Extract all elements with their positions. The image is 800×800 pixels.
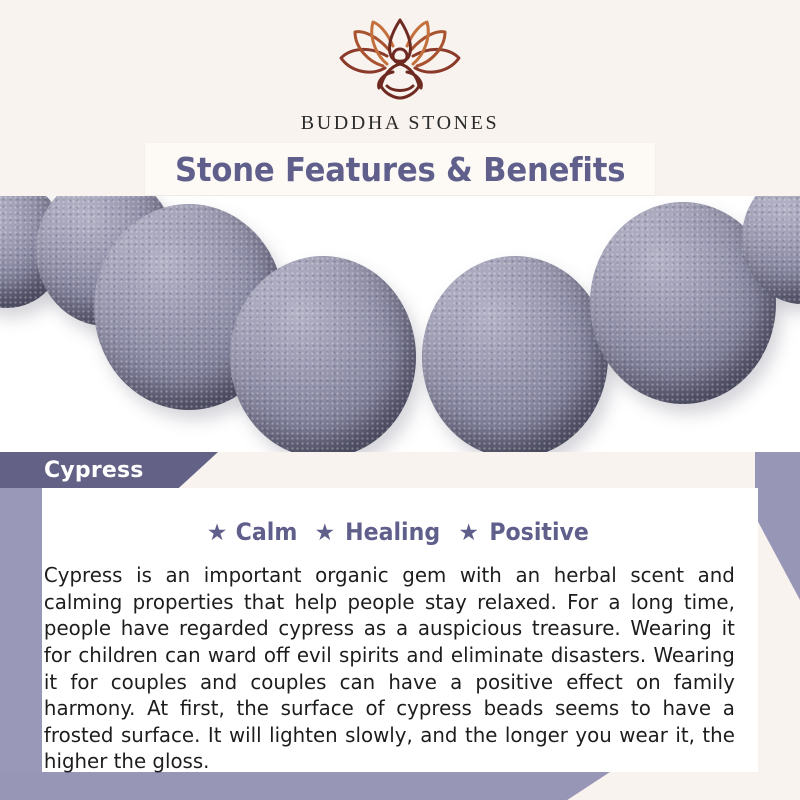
content-panel: ★ Calm ★ Healing ★ Positive Cypress is a… xyxy=(42,488,758,772)
brand-name: BUDDHA STONES xyxy=(301,112,499,135)
stone-name-banner: Cypress xyxy=(0,452,218,488)
benefit-label: Positive xyxy=(489,518,589,546)
benefit-item-healing: ★ Healing xyxy=(314,518,444,546)
infographic-page: BUDDHA STONES Stone Features & Benefits … xyxy=(0,0,800,800)
star-icon: ★ xyxy=(458,521,479,544)
page-title: Stone Features & Benefits xyxy=(175,150,625,189)
benefits-list: ★ Calm ★ Healing ★ Positive xyxy=(42,518,758,546)
stone-name: Cypress xyxy=(44,458,144,483)
benefit-label: Healing xyxy=(345,518,440,546)
star-icon: ★ xyxy=(207,521,228,544)
header: BUDDHA STONES Stone Features & Benefits xyxy=(0,0,800,200)
benefit-item-calm: ★ Calm xyxy=(207,518,301,546)
lotus-meditation-logo-icon xyxy=(325,16,475,108)
bead xyxy=(422,256,608,452)
title-banner: Stone Features & Benefits xyxy=(145,143,655,195)
decor-bar-bottom xyxy=(0,772,610,800)
benefit-label: Calm xyxy=(236,518,298,546)
stone-description: Cypress is an important organic gem with… xyxy=(42,562,735,775)
star-icon: ★ xyxy=(314,521,335,544)
benefit-item-positive: ★ Positive xyxy=(458,518,593,546)
bead xyxy=(230,256,416,452)
product-photo xyxy=(0,196,800,452)
brand-logo: BUDDHA STONES xyxy=(0,16,800,135)
